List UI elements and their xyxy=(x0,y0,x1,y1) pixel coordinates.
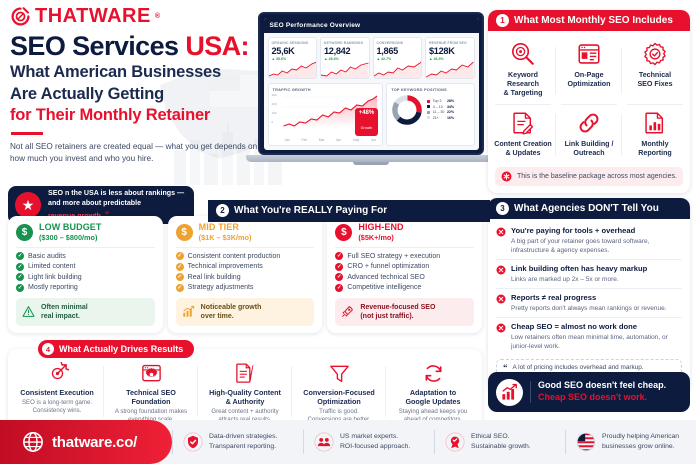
kpi-row: ORGANIC SESSIONS 25,6K ▲ 35.6% KEYWORD R… xyxy=(264,33,479,83)
subtitle-line-2: Are Actually Getting xyxy=(10,85,260,104)
x-tick: Apr xyxy=(336,138,341,142)
subtitle-line-3: for Their Monthly Retainer xyxy=(10,106,260,125)
kpi-label: KEYWORD RANKINGS xyxy=(324,41,366,45)
check-icon: ✓ xyxy=(335,252,343,260)
legend-value: 34% xyxy=(447,105,454,109)
kpi-card: KEYWORD RANKINGS 12,842 ▲ 28.4% xyxy=(320,37,370,79)
link-chain-icon xyxy=(559,109,619,137)
tier-card-low-budget[interactable]: $ LOW BUDGET ($300 – $800/mo) ✓Basic aud… xyxy=(8,216,163,333)
banner-line-2: Cheap SEO doesn't work. xyxy=(538,392,666,404)
footer-item-data-driven: Data-driven strategies. Transparent repo… xyxy=(173,432,303,452)
tier-footnote: Often minimalreal impact. xyxy=(16,298,155,326)
x-circle-icon xyxy=(496,323,506,333)
panel4-number: 4 xyxy=(42,343,54,355)
seo-dashboard: SEO Performance Overview ORGANIC SESSION… xyxy=(264,18,479,150)
footer-line-1: Proudly helping American xyxy=(602,432,679,442)
laptop-notch xyxy=(353,162,389,165)
growth-chart-icon xyxy=(496,379,523,406)
dollar-coin-icon: $ xyxy=(335,224,352,241)
include-item-keyword-research[interactable]: Keyword Research & Targeting xyxy=(490,36,556,105)
gear-check-icon xyxy=(625,40,685,68)
keyword-research-icon xyxy=(493,40,553,68)
footer-item-usa: Proudly helping American businesses grow… xyxy=(566,432,696,452)
laptop-screen: SEO Performance Overview ORGANIC SESSION… xyxy=(258,12,484,155)
check-icon: ✓ xyxy=(16,284,24,292)
bullet-text: Basic audits xyxy=(28,253,66,260)
tier-footnote-line1: Noticeable growth xyxy=(201,303,262,312)
website-url-pill[interactable]: thatware.co/ xyxy=(0,420,172,464)
secret-title: Cheap SEO = almost no work done xyxy=(511,322,682,331)
footer-line-2: Sustainable growth. xyxy=(471,442,531,452)
divider xyxy=(11,132,43,135)
bullet-text: Mostly reporting xyxy=(28,284,78,291)
donut-wrapper: Top 3 28% 4 – 10 34% 1 xyxy=(391,93,469,126)
legend-swatch-icon xyxy=(427,100,430,103)
tier-bullet: ✓Basic audits xyxy=(16,252,155,260)
tier-name: HIGH-END xyxy=(358,222,403,232)
baseline-note: This is the baseline package across most… xyxy=(495,167,683,186)
users-icon xyxy=(314,432,334,452)
tier-footnote-line2: (not just traffic). xyxy=(360,312,435,321)
tier-bullet: ✓CRO + funnel optimization xyxy=(335,263,474,271)
laptop-mockup: SEO Performance Overview ORGANIC SESSION… xyxy=(258,12,484,165)
bullet-text: Advanced technical SEO xyxy=(347,274,424,281)
star-icon: ★ xyxy=(15,192,41,218)
legend-item: 21+ 16% xyxy=(427,116,454,120)
sparkline-chart xyxy=(426,61,474,78)
tier-footnote-line2: real impact. xyxy=(41,312,88,321)
footer-line-1: US market experts. xyxy=(340,432,410,442)
tier-bullet: ✓Competitive intelligence xyxy=(335,284,474,292)
secret-title: Link building often has heavy markup xyxy=(511,264,647,273)
include-label: Link Building / Outreach xyxy=(559,140,619,158)
panel-agencies-dont-tell: 3 What Agencies DON'T Tell You You're pa… xyxy=(488,198,690,393)
footer-item-us-market: US market experts. ROI-focused approach. xyxy=(304,432,434,452)
legend-label: 11 – 30 xyxy=(433,110,445,114)
panel4-title: What Actually Drives Results xyxy=(59,344,183,354)
tier-card-high-end[interactable]: $ HIGH-END ($5K+/mo) ✓Full SEO strategy … xyxy=(327,216,482,333)
legend-label: 4 – 10 xyxy=(433,105,443,109)
result-item-technical-foundation[interactable]: Technical SEO Foundation A strong founda… xyxy=(104,361,198,424)
rocket-icon xyxy=(341,305,354,318)
include-label: Technical SEO Fixes xyxy=(625,71,685,89)
dashboard-title: SEO Performance Overview xyxy=(264,18,479,33)
content-pencil-icon xyxy=(493,109,553,137)
kpi-value: 25,6K xyxy=(272,46,314,56)
legend-value: 22% xyxy=(447,110,454,114)
x-tick: May xyxy=(353,138,359,142)
x-tick: Jun xyxy=(371,138,376,142)
bullet-text: CRO + funnel optimization xyxy=(347,263,429,270)
check-icon: ✓ xyxy=(176,284,184,292)
shield-check-icon xyxy=(183,432,203,452)
tier-footnote-line1: Revenue-focused SEO xyxy=(360,303,435,312)
banner-line-1: Good SEO doesn't feel cheap. xyxy=(538,380,666,392)
kpi-value: 12,842 xyxy=(324,46,366,56)
globe-icon xyxy=(22,431,44,453)
include-label: Keyword Research & Targeting xyxy=(493,71,553,99)
divider xyxy=(530,381,531,403)
legend-label: Top 3 xyxy=(433,99,442,103)
y-tick: 10K xyxy=(272,111,277,115)
growth-badge: +48% Growth xyxy=(355,108,379,135)
include-item-on-page[interactable]: On-Page Optimization xyxy=(556,36,622,105)
tier-header: $ LOW BUDGET ($300 – $800/mo) xyxy=(16,222,155,247)
include-item-link-building[interactable]: Link Building / Outreach xyxy=(556,105,622,164)
target-arrow-icon xyxy=(14,361,100,386)
y-tick: 0 xyxy=(272,120,277,124)
growth-bars-icon xyxy=(182,305,195,318)
browser-gear-icon xyxy=(108,361,194,386)
tier-bullets: ✓Consistent content production ✓Technica… xyxy=(176,252,315,292)
tier-bullet: ✓Real link building xyxy=(176,273,315,281)
headline-block: SEO Services USA: What American Business… xyxy=(10,32,260,166)
secret-title: You're paying for tools + overhead xyxy=(511,226,682,235)
footer-item-ethical-seo: Ethical SEO. Sustainable growth. xyxy=(435,432,565,452)
panel3-number: 3 xyxy=(496,202,509,215)
tier-bullets: ✓Basic audits ✓Limited content ✓Light li… xyxy=(16,252,155,292)
check-icon: ✓ xyxy=(335,284,343,292)
x-circle-icon xyxy=(496,294,506,304)
check-icon: ✓ xyxy=(16,273,24,281)
y-tick: 30K xyxy=(272,93,277,97)
panel2-header-inner: 2 What You're REALLY Paying For xyxy=(208,200,490,221)
website-url: thatware.co/ xyxy=(52,434,137,451)
funnel-icon xyxy=(296,361,382,386)
footer-features: Data-driven strategies. Transparent repo… xyxy=(172,430,696,454)
list-item: You're paying for tools + overheadA big … xyxy=(496,222,682,260)
tier-header: $ MID TIER ($1K – $3K/mo) xyxy=(176,222,315,247)
legend-item: 4 – 10 34% xyxy=(427,105,454,109)
result-item-consistent-execution[interactable]: Consistent Execution SEO is a long-term … xyxy=(10,361,104,424)
cheap-seo-banner: Good SEO doesn't feel cheap. Cheap SEO d… xyxy=(488,372,690,412)
result-item-google-updates[interactable]: Adaptation to Google Updates Staying ahe… xyxy=(386,361,480,424)
includes-grid: Keyword Research & Targeting On-Page Opt… xyxy=(488,31,690,166)
donut-legend: Top 3 28% 4 – 10 34% 1 xyxy=(427,99,454,120)
warning-triangle-icon xyxy=(22,305,35,318)
footer-bar: thatware.co/ Data-driven strategies. Tra… xyxy=(0,420,696,464)
divider xyxy=(176,247,315,248)
footer-line-2: ROI-focused approach. xyxy=(340,442,410,452)
bullet-text: Limited content xyxy=(28,263,75,270)
tier-footnote: Revenue-focused SEO(not just traffic). xyxy=(335,298,474,326)
secret-desc: A big part of your retainer goes toward … xyxy=(511,237,682,255)
legend-value: 28% xyxy=(447,99,454,103)
tier-bullet: ✓Full SEO strategy + execution xyxy=(335,252,474,260)
panel4-header: 4 What Actually Drives Results xyxy=(38,340,194,358)
keyword-donut-chart xyxy=(391,94,423,126)
kpi-value: 1,865 xyxy=(377,46,419,56)
brand-logo[interactable]: THATWARE ® xyxy=(10,6,160,27)
check-icon: ✓ xyxy=(176,263,184,271)
page-title: SEO Services USA: xyxy=(10,32,260,60)
include-item-monthly-reporting[interactable]: Monthly Reporting xyxy=(622,105,688,164)
dollar-coin-icon: $ xyxy=(176,224,193,241)
legend-value: 16% xyxy=(447,116,454,120)
sparkline-chart xyxy=(321,61,369,78)
secret-desc: Low retainers often mean minimal time, a… xyxy=(511,333,682,351)
x-tick: Jan xyxy=(285,138,290,142)
x-tick: Feb xyxy=(301,138,307,142)
on-page-icon xyxy=(559,40,619,68)
kpi-label: REVENUE FROM SEO xyxy=(429,41,471,45)
tier-bullets: ✓Full SEO strategy + execution ✓CRO + fu… xyxy=(335,252,474,292)
keyword-chart-title: TOP KEYWORD POSITIONS xyxy=(391,87,469,92)
footer-item-text: Ethical SEO. Sustainable growth. xyxy=(471,432,531,452)
document-pen-icon xyxy=(202,361,288,386)
list-item: Link building often has heavy markupLink… xyxy=(496,260,682,289)
secret-desc: Links are marked up 2x – 5x or more. xyxy=(511,275,647,284)
legend-swatch-icon xyxy=(427,116,430,119)
footer-line-1: Ethical SEO. xyxy=(471,432,531,442)
infographic-page: THATWARE ® SEO Services USA: What Americ… xyxy=(0,0,696,464)
check-icon: ✓ xyxy=(176,273,184,281)
check-icon: ✓ xyxy=(16,252,24,260)
report-chart-icon xyxy=(625,109,685,137)
bullet-text: Strategy adjustments xyxy=(188,284,254,291)
secrets-list: You're paying for tools + overheadA big … xyxy=(488,219,690,358)
secret-title: Reports ≠ real progress xyxy=(511,293,667,302)
kpi-card: ORGANIC SESSIONS 25,6K ▲ 35.6% xyxy=(268,37,318,79)
include-item-content-creation[interactable]: Content Creation & Updates xyxy=(490,105,556,164)
tier-bullet: ✓Consistent content production xyxy=(176,252,315,260)
result-title: Conversion-Focused Optimization xyxy=(296,388,382,406)
include-label: Monthly Reporting xyxy=(625,140,685,158)
kpi-value: $128K xyxy=(429,46,471,56)
title-part-2: USA: xyxy=(185,31,249,61)
tier-name: MID TIER xyxy=(199,222,252,232)
x-tick: Mar xyxy=(319,138,325,142)
result-item-conversion-optimization[interactable]: Conversion-Focused Optimization Traffic … xyxy=(292,361,386,424)
panel-what-seo-includes: 1 What Most Monthly SEO Includes Keyword… xyxy=(488,10,690,193)
tier-price: ($300 – $800/mo) xyxy=(39,233,102,242)
keyword-positions-panel: TOP KEYWORD POSITIONS xyxy=(386,83,474,146)
footer-line-2: businesses grow online. xyxy=(602,442,679,452)
usa-flag-icon xyxy=(576,432,596,452)
intro-paragraph: Not all SEO retainers are created equal … xyxy=(10,141,260,166)
result-title: Consistent Execution xyxy=(14,388,100,397)
tier-footnote-line2: over time. xyxy=(201,312,262,321)
tier-bullet: ✓Mostly reporting xyxy=(16,284,155,292)
x-circle-icon xyxy=(496,265,506,275)
bullet-text: Real link building xyxy=(188,274,241,281)
panel2-header: 2 What You're REALLY Paying For xyxy=(208,200,490,222)
sparkline-chart xyxy=(269,61,317,78)
tier-footnote-line1: Often minimal xyxy=(41,303,88,312)
tier-footnote: Noticeable growthover time. xyxy=(176,298,315,326)
laptop-base xyxy=(246,155,496,162)
panel2-number: 2 xyxy=(216,204,229,217)
check-icon: ✓ xyxy=(335,273,343,281)
bullet-text: Full SEO strategy + execution xyxy=(347,253,440,260)
result-title: High-Quality Content & Authority xyxy=(202,388,288,406)
dollar-coin-icon: $ xyxy=(16,224,33,241)
award-ribbon-icon xyxy=(445,432,465,452)
hero-quote-line-1: SEO n the USA is less about rankings — xyxy=(48,188,184,198)
brand-name: THATWARE xyxy=(35,6,151,27)
legend-swatch-icon xyxy=(427,105,430,108)
tier-bullet: ✓Strategy adjustments xyxy=(176,284,315,292)
result-item-quality-content[interactable]: High-Quality Content & Authority Great c… xyxy=(198,361,292,424)
panel3-header: 3 What Agencies DON'T Tell You xyxy=(488,198,690,219)
panel1-number: 1 xyxy=(496,14,509,27)
panel3-title: What Agencies DON'T Tell You xyxy=(514,203,659,214)
asterisk-icon xyxy=(501,171,512,182)
tier-bullet: ✓Advanced technical SEO xyxy=(335,273,474,281)
thatware-logo-icon xyxy=(10,6,31,27)
check-icon: ✓ xyxy=(335,263,343,271)
y-tick: 20K xyxy=(272,102,277,106)
registered-mark: ® xyxy=(155,13,160,20)
sparkline-chart xyxy=(374,61,422,78)
dashboard-charts-row: TRAFFIC GROWTH xyxy=(264,83,479,150)
bullet-text: Competitive intelligence xyxy=(347,284,421,291)
bullet-text: Technical improvements xyxy=(188,263,263,270)
kpi-card: REVENUE FROM SEO $128K ▲ 46.3% xyxy=(425,37,475,79)
include-label: On-Page Optimization xyxy=(559,71,619,89)
tier-bullet: ✓Limited content xyxy=(16,263,155,271)
list-item: Reports ≠ real progressPretty reports do… xyxy=(496,289,682,318)
result-title: Technical SEO Foundation xyxy=(108,388,194,406)
legend-item: 11 – 30 22% xyxy=(427,110,454,114)
divider xyxy=(335,247,474,248)
baseline-note-text: This is the baseline package across most… xyxy=(517,173,677,180)
bullet-text: Light link building xyxy=(28,274,82,281)
secret-desc: Pretty reports don't always mean ranking… xyxy=(511,304,667,313)
kpi-label: CONVERSIONS xyxy=(377,41,419,45)
panel1-header: 1 What Most Monthly SEO Includes xyxy=(488,10,690,31)
tier-card-mid-tier[interactable]: $ MID TIER ($1K – $3K/mo) ✓Consistent co… xyxy=(168,216,323,333)
list-item: Cheap SEO = almost no work doneLow retai… xyxy=(496,318,682,355)
kpi-label: ORGANIC SESSIONS xyxy=(272,41,314,45)
growth-badge-value: +48% xyxy=(359,110,375,116)
check-icon: ✓ xyxy=(16,263,24,271)
growth-badge-label: Growth xyxy=(361,126,373,130)
check-icon: ✓ xyxy=(176,252,184,260)
footer-line-2: Transparent reporting. xyxy=(209,442,277,452)
tiers-row: $ LOW BUDGET ($300 – $800/mo) ✓Basic aud… xyxy=(8,216,482,333)
insight-text: A lot of pricing includes overhead and m… xyxy=(513,364,644,373)
tier-bullet: ✓Light link building xyxy=(16,273,155,281)
include-label: Content Creation & Updates xyxy=(493,140,553,158)
footer-item-text: US market experts. ROI-focused approach. xyxy=(340,432,410,452)
tier-bullet: ✓Technical improvements xyxy=(176,263,315,271)
legend-swatch-icon xyxy=(427,111,430,114)
include-item-technical-fixes[interactable]: Technical SEO Fixes xyxy=(622,36,688,105)
traffic-growth-panel: TRAFFIC GROWTH xyxy=(268,83,384,146)
tier-price: ($1K – $3K/mo) xyxy=(199,233,252,242)
tier-name: LOW BUDGET xyxy=(39,222,102,232)
result-desc: SEO is a long-term game. Consistency win… xyxy=(14,399,100,415)
panel1-title: What Most Monthly SEO Includes xyxy=(514,15,673,26)
panel2-title: What You're REALLY Paying For xyxy=(234,205,387,216)
legend-label: 21+ xyxy=(433,116,439,120)
divider xyxy=(16,247,155,248)
x-circle-icon xyxy=(496,227,506,237)
title-part-1: SEO Services xyxy=(10,31,185,61)
tier-price: ($5K+/mo) xyxy=(358,233,403,242)
traffic-chart-title: TRAFFIC GROWTH xyxy=(273,87,379,92)
hero-quote-line-2: and more about predictable xyxy=(48,198,184,208)
tier-header: $ HIGH-END ($5K+/mo) xyxy=(335,222,474,247)
result-title: Adaptation to Google Updates xyxy=(390,388,476,406)
legend-item: Top 3 28% xyxy=(427,99,454,103)
kpi-card: CONVERSIONS 1,865 ▲ 42.7% xyxy=(373,37,423,79)
footer-item-text: Proudly helping American businesses grow… xyxy=(602,432,679,452)
subtitle-line-1: What American Businesses xyxy=(10,63,260,82)
bullet-text: Consistent content production xyxy=(188,253,281,260)
footer-item-text: Data-driven strategies. Transparent repo… xyxy=(209,432,277,452)
footer-line-1: Data-driven strategies. xyxy=(209,432,277,442)
refresh-icon xyxy=(390,361,476,386)
